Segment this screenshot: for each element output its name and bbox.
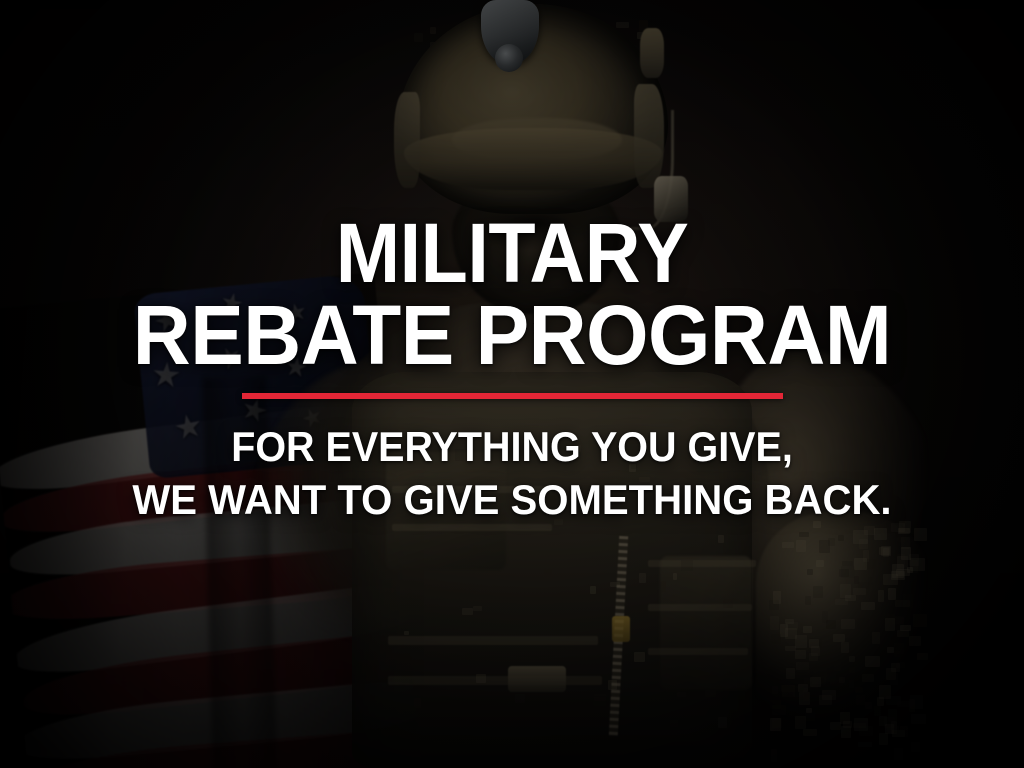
headline-line-1: MILITARY [41,214,983,292]
red-divider-rule [242,393,783,399]
background-photo: ★★★★★★★★★ [0,0,1024,768]
subheadline-line-2: WE WANT TO GIVE SOMETHING BACK. [23,476,1001,524]
headline-line-2: REBATE PROGRAM [23,296,1001,374]
military-rebate-banner: ★★★★★★★★★ [0,0,1024,768]
photo-vignette [0,0,1024,768]
subheadline-line-1: FOR EVERYTHING YOU GIVE, [31,423,994,471]
